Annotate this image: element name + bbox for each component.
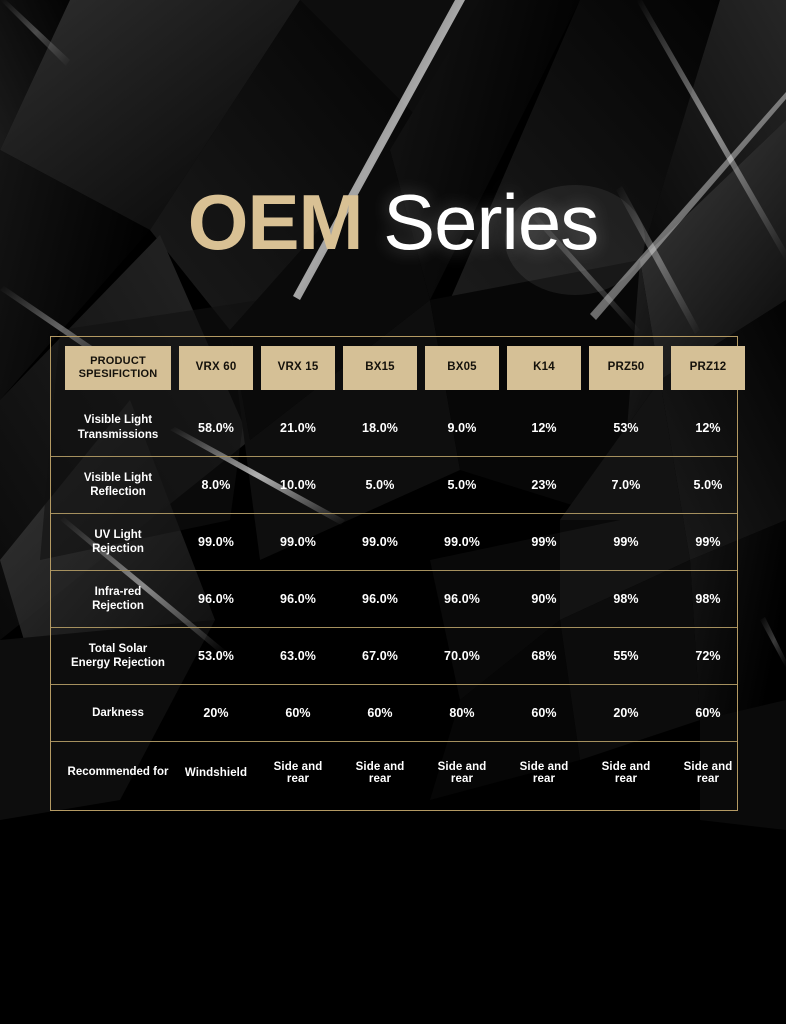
header-first-line2: SPESIFICTION xyxy=(79,368,158,380)
cell-value: 55% xyxy=(589,649,663,663)
table-row: Visible Light Reflection 8.0% 10.0% 5.0%… xyxy=(51,456,737,513)
cell-value: 99% xyxy=(507,535,581,549)
cell-value: 60% xyxy=(261,706,335,720)
cell-value: 90% xyxy=(507,592,581,606)
cell-value: 99% xyxy=(589,535,663,549)
row-label-line1: Total Solar xyxy=(89,643,148,655)
table-row: Darkness 20% 60% 60% 80% 60% 20% 60% xyxy=(51,684,737,741)
cell-value: 12% xyxy=(671,421,745,435)
row-label: Total Solar Energy Rejection xyxy=(65,642,171,671)
poster-page: OEM Series PRODUCT SPESIFICTION VRX 60 V… xyxy=(0,0,786,1024)
row-label-line1: Darkness xyxy=(92,707,144,719)
cell-value: 96.0% xyxy=(425,592,499,606)
table-row: Infra-red Rejection 96.0% 96.0% 96.0% 96… xyxy=(51,570,737,627)
cell-value: 70.0% xyxy=(425,649,499,663)
row-label: UV Light Rejection xyxy=(65,528,171,557)
table-row: Visible Light Transmissions 58.0% 21.0% … xyxy=(51,399,737,456)
table-row-recommended: Recommended for Windshield Side and rear… xyxy=(51,741,737,803)
cell-value: 68% xyxy=(507,649,581,663)
cell-recommended: Windshield xyxy=(179,767,253,779)
cell-value: 98% xyxy=(589,592,663,606)
cell-value: 10.0% xyxy=(261,478,335,492)
column-header-prz50: PRZ50 xyxy=(589,346,663,390)
cell-value: 5.0% xyxy=(671,478,745,492)
cell-recommended: Side and rear xyxy=(507,761,581,785)
row-label-line2: Rejection xyxy=(92,600,144,612)
cell-value: 99.0% xyxy=(179,535,253,549)
row-label-line2: Energy Rejection xyxy=(71,657,165,669)
cell-value: 99.0% xyxy=(261,535,335,549)
cell-value: 58.0% xyxy=(179,421,253,435)
cell-recommended: Side and rear xyxy=(343,761,417,785)
header-first-line1: PRODUCT xyxy=(90,355,146,367)
row-label-line1: UV Light xyxy=(94,529,141,541)
page-title: OEM Series xyxy=(0,183,786,261)
table-header-row: PRODUCT SPESIFICTION VRX 60 VRX 15 BX15 … xyxy=(51,337,737,399)
row-label: Infra-red Rejection xyxy=(65,585,171,614)
cell-recommended: Side and rear xyxy=(261,761,335,785)
column-header-bx15: BX15 xyxy=(343,346,417,390)
column-header-bx05: BX05 xyxy=(425,346,499,390)
cell-value: 21.0% xyxy=(261,421,335,435)
cell-value: 99% xyxy=(671,535,745,549)
column-header-k14: K14 xyxy=(507,346,581,390)
row-label-line1: Visible Light xyxy=(84,414,152,426)
row-label-line1: Infra-red xyxy=(95,586,142,598)
cell-value: 5.0% xyxy=(425,478,499,492)
column-header-vrx15: VRX 15 xyxy=(261,346,335,390)
cell-value: 99.0% xyxy=(343,535,417,549)
cell-value: 99.0% xyxy=(425,535,499,549)
cell-value: 9.0% xyxy=(425,421,499,435)
cell-value: 80% xyxy=(425,706,499,720)
cell-value: 23% xyxy=(507,478,581,492)
cell-recommended: Side and rear xyxy=(671,761,745,785)
cell-value: 63.0% xyxy=(261,649,335,663)
column-header-prz12: PRZ12 xyxy=(671,346,745,390)
cell-value: 5.0% xyxy=(343,478,417,492)
row-label-line1: Visible Light xyxy=(84,472,152,484)
row-label-line2: Reflection xyxy=(90,486,146,498)
cell-value: 72% xyxy=(671,649,745,663)
cell-value: 96.0% xyxy=(179,592,253,606)
cell-value: 60% xyxy=(671,706,745,720)
table-row: UV Light Rejection 99.0% 99.0% 99.0% 99.… xyxy=(51,513,737,570)
cell-value: 12% xyxy=(507,421,581,435)
row-label-recommended: Recommended for xyxy=(65,765,171,779)
cell-value: 20% xyxy=(179,706,253,720)
cell-recommended: Side and rear xyxy=(589,761,663,785)
cell-value: 20% xyxy=(589,706,663,720)
cell-recommended: Side and rear xyxy=(425,761,499,785)
cell-value: 18.0% xyxy=(343,421,417,435)
row-label-line2: Transmissions xyxy=(78,429,159,441)
cell-value: 8.0% xyxy=(179,478,253,492)
cell-value: 96.0% xyxy=(261,592,335,606)
cell-value: 60% xyxy=(507,706,581,720)
row-label: Darkness xyxy=(65,706,171,720)
cell-value: 96.0% xyxy=(343,592,417,606)
column-header-product-specification: PRODUCT SPESIFICTION xyxy=(65,346,171,390)
title-oem: OEM xyxy=(188,178,363,266)
cell-value: 7.0% xyxy=(589,478,663,492)
title-series: Series xyxy=(362,178,598,266)
specification-table: PRODUCT SPESIFICTION VRX 60 VRX 15 BX15 … xyxy=(50,336,738,811)
cell-value: 67.0% xyxy=(343,649,417,663)
cell-value: 53.0% xyxy=(179,649,253,663)
row-label: Visible Light Transmissions xyxy=(65,413,171,442)
row-label-line2: Rejection xyxy=(92,543,144,555)
column-header-vrx60: VRX 60 xyxy=(179,346,253,390)
cell-value: 60% xyxy=(343,706,417,720)
row-label: Visible Light Reflection xyxy=(65,471,171,500)
cell-value: 53% xyxy=(589,421,663,435)
table-row: Total Solar Energy Rejection 53.0% 63.0%… xyxy=(51,627,737,684)
cell-value: 98% xyxy=(671,592,745,606)
